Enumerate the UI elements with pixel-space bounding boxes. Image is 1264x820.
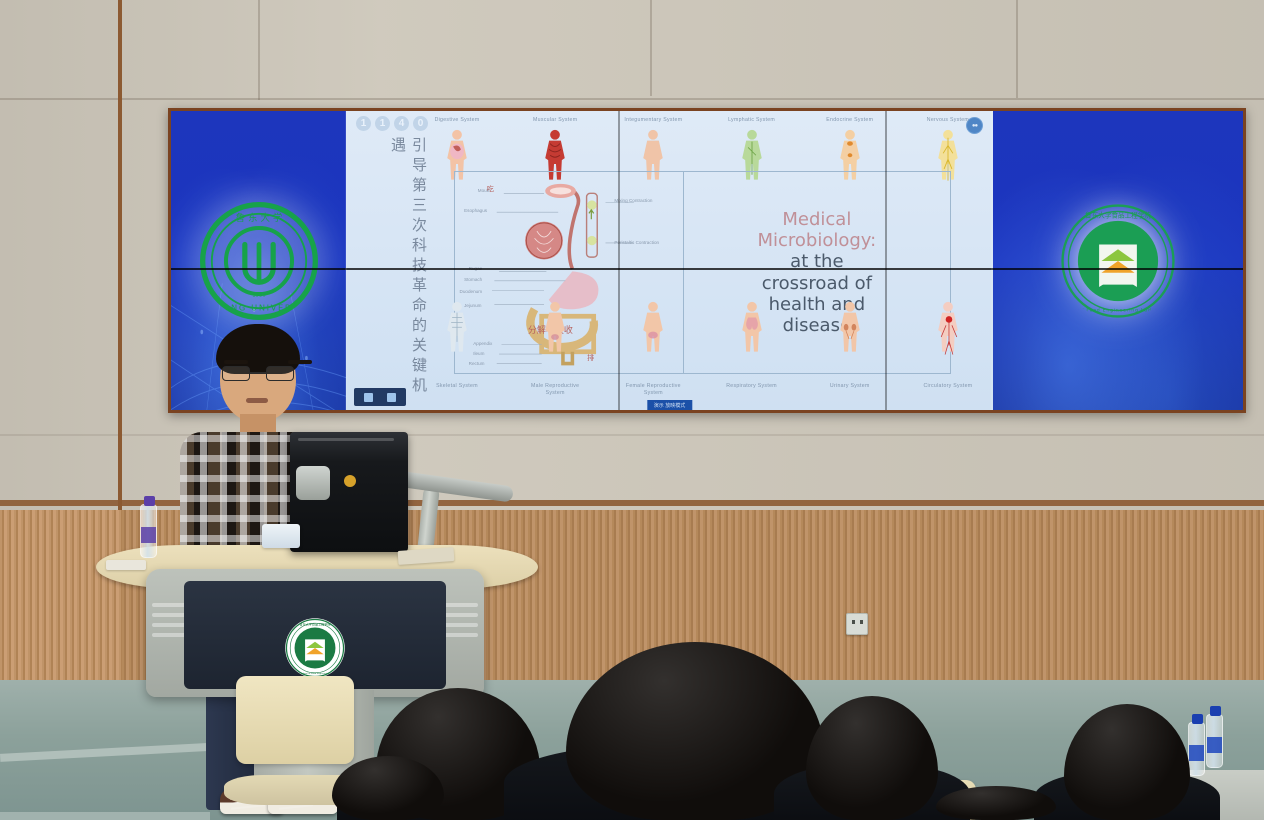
svg-text:鲁东大学食品工程学院: 鲁东大学食品工程学院 xyxy=(300,622,331,627)
anatomy-label: Mixing Contraction xyxy=(614,198,652,203)
page-digit: 1 xyxy=(375,116,390,131)
organ-label: Nervous System xyxy=(915,117,981,124)
slide-page-indicator: 1 1 4 0 xyxy=(356,116,428,131)
videowall-vertical-seam xyxy=(885,111,887,410)
lens xyxy=(222,366,250,381)
anatomy-cn-label: 吃 xyxy=(487,184,494,194)
videowall-right-panel: 鲁东大学食品工程学院 School of Food Engineering Lu… xyxy=(993,111,1243,410)
videowall-vertical-seam xyxy=(345,111,347,410)
college-emblem: 鲁东大学食品工程学院 School of Food Engineering xyxy=(284,617,346,679)
monitor-mount-joint xyxy=(296,466,330,500)
ludong-university-emblem: 鲁 东 大 学 LUDONG UNIVERSITY 1930 xyxy=(200,202,318,320)
skeletal-system-figure-icon xyxy=(424,298,490,376)
audience-head xyxy=(806,696,938,820)
svg-text:School of Food Engineering Lud: School of Food Engineering Ludong Univ. xyxy=(1059,307,1177,313)
slide-mode-tag: 演示 放映模式 xyxy=(647,400,692,410)
water-bottle[interactable] xyxy=(140,504,157,558)
wall-trim xyxy=(118,0,122,520)
respiratory-system-figure-icon xyxy=(719,298,785,376)
organ-label: Muscular System xyxy=(522,117,588,124)
urinary-system-figure-icon xyxy=(817,298,883,376)
wall-seam xyxy=(650,0,652,96)
organ-label: Digestive System xyxy=(424,117,490,124)
page-digit: 4 xyxy=(394,116,409,131)
bottle-cap xyxy=(1210,706,1221,716)
male-reproductive-system-figure-icon xyxy=(522,298,588,376)
bottle-label xyxy=(1189,745,1204,761)
monitor-arm-knob[interactable] xyxy=(344,475,356,487)
papers[interactable] xyxy=(106,560,146,570)
power-outlet[interactable] xyxy=(846,613,868,635)
organ-label: Urinary System xyxy=(817,383,883,390)
page-digit: 1 xyxy=(356,116,371,131)
audience-head xyxy=(1064,704,1190,820)
audience-member xyxy=(332,756,444,820)
slide-title-line: Medical xyxy=(782,209,851,230)
seat-backrest[interactable] xyxy=(236,676,354,764)
slide-subtitle-line: crossroad of xyxy=(762,273,872,294)
eyebrow xyxy=(224,360,248,364)
organ-system-item: Respiratory System xyxy=(719,298,785,396)
svg-text:鲁 东 大 学: 鲁 东 大 学 xyxy=(235,211,282,223)
eyebrow xyxy=(288,360,312,364)
bottle-label xyxy=(141,527,156,543)
organ-label: Respiratory System xyxy=(719,383,785,390)
organ-label: Lymphatic System xyxy=(719,117,785,124)
videowall-horizontal-seam xyxy=(171,268,1243,270)
organ-label: Skeletal System xyxy=(424,383,490,390)
audience-head xyxy=(332,756,444,820)
audience-member xyxy=(1064,690,1190,820)
organ-system-item: Urinary System xyxy=(817,298,883,396)
anatomy-label: Esophagus xyxy=(464,208,487,213)
presentation-slide[interactable]: 1 1 4 0 ●● 引导第三次科技革命的关键机遇 Digestive Syst… xyxy=(346,111,993,410)
organ-label: Endocrine System xyxy=(817,117,883,124)
female-reproductive-system-figure-icon xyxy=(620,298,686,376)
organ-system-item: Male Reproductive System xyxy=(522,298,588,396)
organ-label: Male Reproductive System xyxy=(522,383,588,396)
wall-seam xyxy=(258,0,260,100)
organ-label: Female Reproductive System xyxy=(620,383,686,396)
anatomy-label: Stomach xyxy=(464,277,482,282)
organ-system-item: Female Reproductive System xyxy=(620,298,686,396)
svg-text:1930: 1930 xyxy=(252,292,266,298)
lecture-hall-scene: 鲁 东 大 学 LUDONG UNIVERSITY 1930 1 1 4 0 ●… xyxy=(0,0,1264,820)
svg-text:School of Food Engineering: School of Food Engineering xyxy=(301,673,330,675)
organ-system-item: Circulatory System xyxy=(915,298,981,396)
wall-seam xyxy=(0,98,1264,100)
organ-label: Integumentary System xyxy=(620,117,686,124)
anatomy-label: Duodenum xyxy=(460,289,482,294)
circulatory-system-figure-icon xyxy=(915,298,981,376)
audience-member xyxy=(936,786,1056,820)
slide-presenter-toolbar[interactable] xyxy=(354,388,406,406)
videowall-vertical-seam xyxy=(991,111,993,410)
audience-head xyxy=(936,786,1056,820)
tissue-box[interactable] xyxy=(262,524,300,548)
pointer-icon[interactable] xyxy=(387,393,396,402)
organ-label: Circulatory System xyxy=(915,383,981,390)
monitor-glare xyxy=(298,438,394,441)
wall-seam xyxy=(1016,0,1018,98)
college-emblem: 鲁东大学食品工程学院 School of Food Engineering Lu… xyxy=(1059,202,1177,320)
bottle-label xyxy=(1207,737,1222,753)
presenter-mouth xyxy=(246,398,268,403)
water-bottle[interactable] xyxy=(1188,722,1205,776)
eyeglasses-icon xyxy=(222,366,294,381)
bottle-cap xyxy=(1192,714,1203,724)
slide-title-line: Microbiology: xyxy=(757,230,876,251)
svg-text:鲁东大学食品工程学院: 鲁东大学食品工程学院 xyxy=(1085,210,1151,219)
anatomy-label: Peristaltic Contraction xyxy=(614,240,659,245)
bottle-cap xyxy=(144,496,155,506)
water-bottle[interactable] xyxy=(1206,714,1223,768)
videowall-vertical-seam xyxy=(618,111,620,410)
organ-system-row-bottom: Skeletal System Male Reproductive System… xyxy=(424,298,981,396)
audience-member xyxy=(806,674,938,820)
bridge xyxy=(250,372,266,374)
organ-system-item: Skeletal System xyxy=(424,298,490,396)
annotate-icon[interactable] xyxy=(364,393,373,402)
lens xyxy=(266,366,294,381)
